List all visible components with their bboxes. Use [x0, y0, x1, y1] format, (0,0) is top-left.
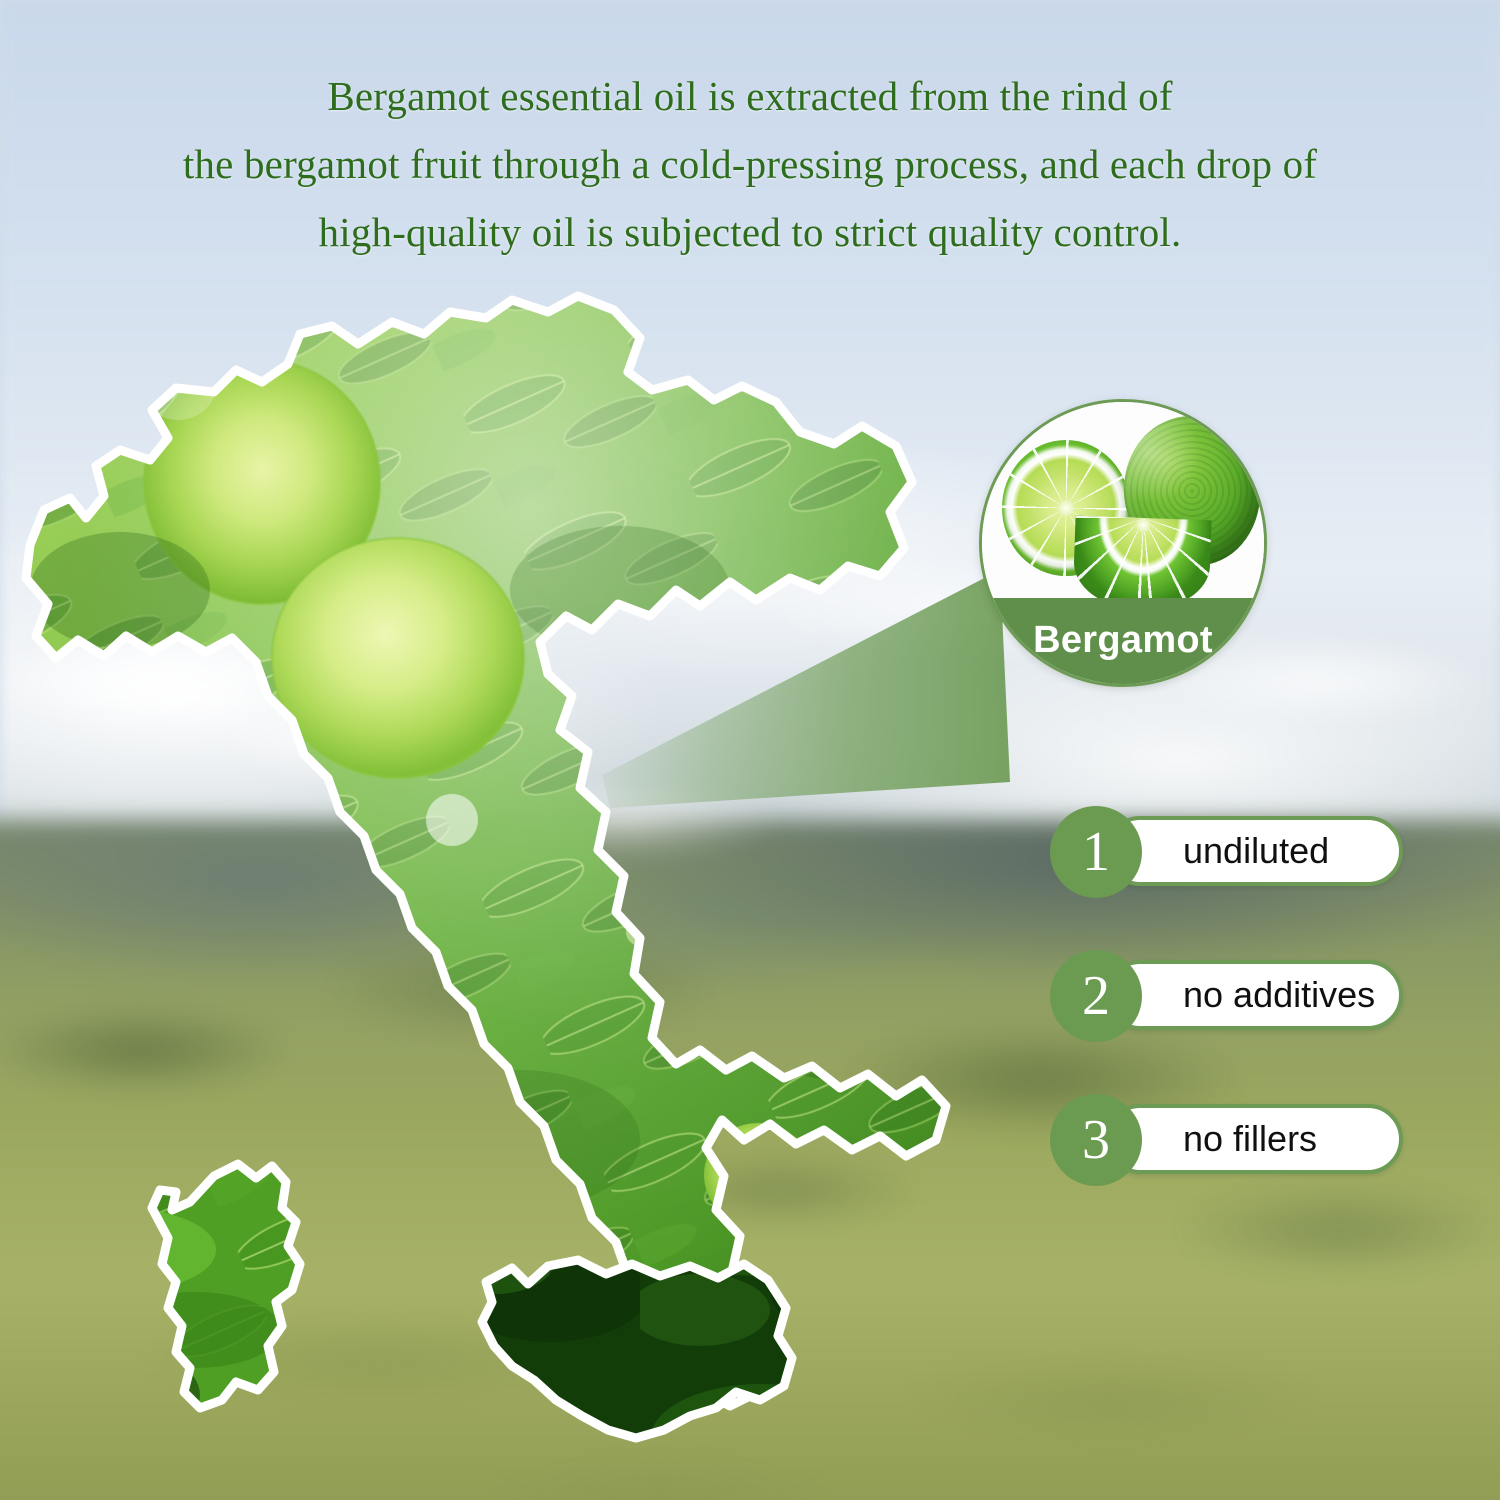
bergamot-fruit-icon	[982, 402, 1264, 604]
infographic-canvas: Bergamot essential oil is extracted from…	[0, 0, 1500, 1500]
bergamot-badge-band: Bergamot	[982, 598, 1264, 684]
bergamot-wedge-slice-icon	[1072, 516, 1211, 604]
headline-line-3: high-quality oil is subjected to strict …	[0, 198, 1500, 266]
feature-number-badge-2: 2	[1050, 950, 1142, 1042]
feature-label-3: no fillers	[1183, 1121, 1317, 1157]
headline-line-2: the bergamot fruit through a cold-pressi…	[0, 130, 1500, 198]
map-island-sicily	[482, 1260, 792, 1438]
headline-text: Bergamot essential oil is extracted from…	[0, 62, 1500, 266]
bergamot-badge: Bergamot	[979, 399, 1267, 687]
headline-line-1: Bergamot essential oil is extracted from…	[0, 62, 1500, 130]
italy-map	[0, 260, 1060, 1500]
feature-pill-2[interactable]: no additives	[1105, 960, 1403, 1030]
feature-item-no-additives[interactable]: no additives 2	[1050, 950, 1470, 1042]
feature-label-2: no additives	[1183, 977, 1375, 1013]
map-island-sardinia	[152, 1164, 300, 1408]
feature-pill-1[interactable]: undiluted	[1105, 816, 1403, 886]
feature-item-undiluted[interactable]: undiluted 1	[1050, 806, 1470, 898]
feature-list: undiluted 1 no additives 2 no fillers 3	[1050, 806, 1470, 1238]
feature-number-badge-1: 1	[1050, 806, 1142, 898]
bergamot-badge-label: Bergamot	[1033, 621, 1213, 661]
feature-pill-3[interactable]: no fillers	[1105, 1104, 1403, 1174]
feature-label-1: undiluted	[1183, 833, 1329, 869]
feature-item-no-fillers[interactable]: no fillers 3	[1050, 1094, 1470, 1186]
feature-number-badge-3: 3	[1050, 1094, 1142, 1186]
